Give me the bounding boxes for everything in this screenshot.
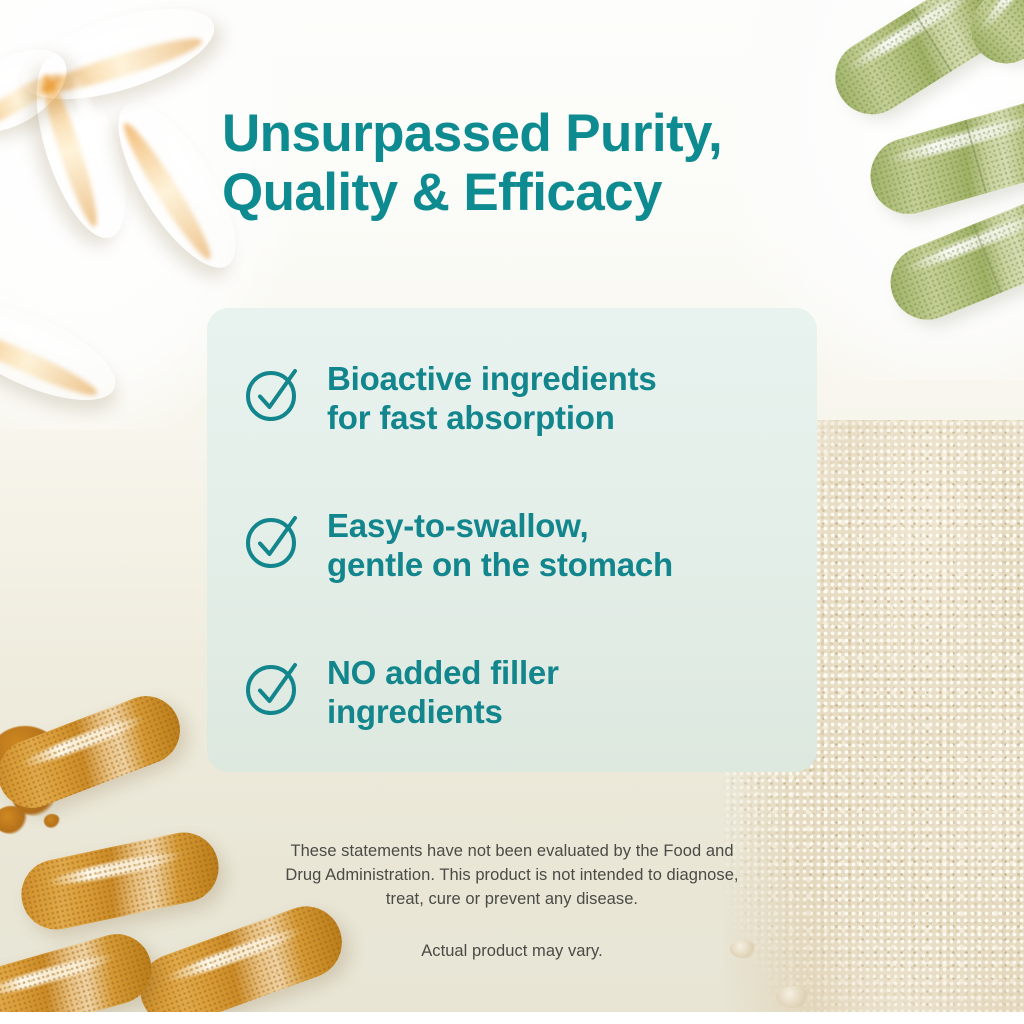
list-item: Bioactive ingredients for fast absorptio… [243,360,783,438]
turmeric-capsule [0,926,160,1024]
list-item-label: Bioactive ingredients for fast absorptio… [327,360,657,438]
powder-crumb [776,986,810,1008]
list-item-label: NO added filler ingredients [327,654,559,732]
check-circle-icon [243,362,305,429]
fda-disclaimer-text: These statements have not been evaluated… [222,840,802,912]
page-title: Unsurpassed Purity, Quality & Efficacy [222,104,822,223]
check-circle-icon [243,509,305,576]
list-item: NO added filler ingredients [243,654,783,732]
benefits-list: Bioactive ingredients for fast absorptio… [207,308,817,772]
product-feature-graphic: Unsurpassed Purity, Quality & Efficacy B… [0,0,1024,1024]
bottom-white-strip [0,1012,1024,1024]
check-circle-icon [243,656,305,723]
turmeric-capsule [15,826,225,936]
spice-powder-blob [44,814,60,828]
list-item-label: Easy-to-swallow, gentle on the stomach [327,507,673,585]
product-variance-text: Actual product may vary. [222,940,802,964]
list-item: Easy-to-swallow, gentle on the stomach [243,507,783,585]
benefits-panel: Bioactive ingredients for fast absorptio… [207,308,817,772]
disclaimer: These statements have not been evaluated… [222,840,802,964]
turmeric-capsule [0,686,190,818]
